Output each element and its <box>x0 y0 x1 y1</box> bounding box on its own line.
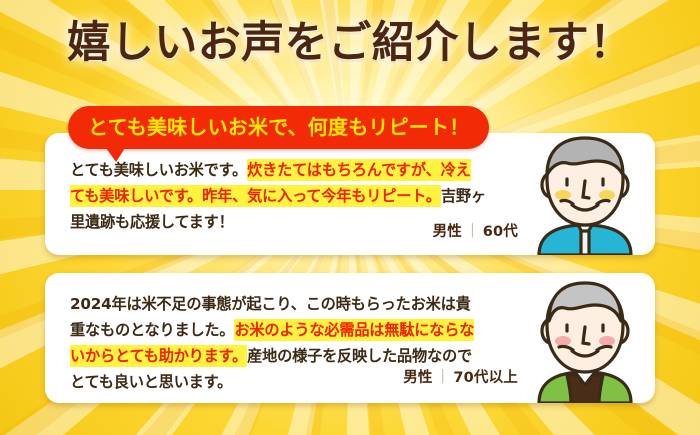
ribbon-callout: とても美味しいお米で、何度もリピート！ <box>68 106 489 149</box>
testimonial-line: 2024年は米不足の事態が起こり、この時もらったお米は貴 <box>70 291 474 317</box>
testimonial-line: とても美味しいお米です。炊きたてはもちろんですが、冷え <box>70 157 486 183</box>
elderly-man-blue-shirt-avatar <box>523 133 647 255</box>
attribution-age: 70代以上 <box>453 370 518 386</box>
attribution-separator: ｜ <box>462 224 483 240</box>
testimonial-card: とても美味しいお米です。炊きたてはもちろんですが、冷えても美味しいです。昨年、気… <box>45 133 655 255</box>
plain-text: 重なものとなりました。 <box>70 321 234 339</box>
plain-text: 2024年は米不足の事態が起こり、この時もらったお米は貴 <box>70 295 471 313</box>
elderly-man-green-cardigan-avatar <box>523 273 647 403</box>
ribbon-tail-icon <box>106 148 125 162</box>
testimonial-line: 重なものとなりました。お米のような必需品は無駄にならな <box>70 317 474 343</box>
highlighted-text: いからとても助かります。 <box>70 345 247 367</box>
attribution-age: 60代 <box>483 224 518 240</box>
ribbon-label: とても美味しいお米で、何度もリピート！ <box>68 106 489 149</box>
highlighted-text: 炊きたてはもちろんですが、冷え <box>247 159 470 181</box>
testimonial-attribution: 男性｜60代 <box>433 220 518 241</box>
highlighted-text: お米のような必需品は無駄にならな <box>234 319 474 341</box>
testimonial-line: ても美味しいです。昨年、気に入って今年もリピート。吉野ヶ <box>70 183 486 209</box>
attribution-gender: 男性 <box>403 370 432 386</box>
attribution-gender: 男性 <box>433 224 462 240</box>
plain-text: 里遺跡も応援してます！ <box>70 213 234 231</box>
plain-text: 吉野ヶ <box>441 187 486 205</box>
page-title: 嬉しいお声をご紹介します！ <box>0 22 700 65</box>
testimonial-attribution: 男性｜70代以上 <box>403 366 518 387</box>
highlighted-text: ても美味しいです。昨年、気に入って今年もリピート。 <box>70 185 441 207</box>
testimonial-body: とても美味しいお米です。炊きたてはもちろんですが、冷えても美味しいです。昨年、気… <box>70 157 486 235</box>
plain-text: とても良いと思います。 <box>70 373 232 391</box>
testimonial-line: 里遺跡も応援してます！ <box>70 209 486 235</box>
plain-text: 産地の様子を反映した品物なので <box>247 347 472 365</box>
attribution-separator: ｜ <box>433 370 454 386</box>
testimonial-card: 2024年は米不足の事態が起こり、この時もらったお米は貴重なものとなりました。お… <box>45 273 655 403</box>
plain-text: とても美味しいお米です。 <box>70 161 247 179</box>
promo-banner: 嬉しいお声をご紹介します！ とても美味しいお米です。炊きたてはもちろんですが、冷… <box>0 0 700 435</box>
